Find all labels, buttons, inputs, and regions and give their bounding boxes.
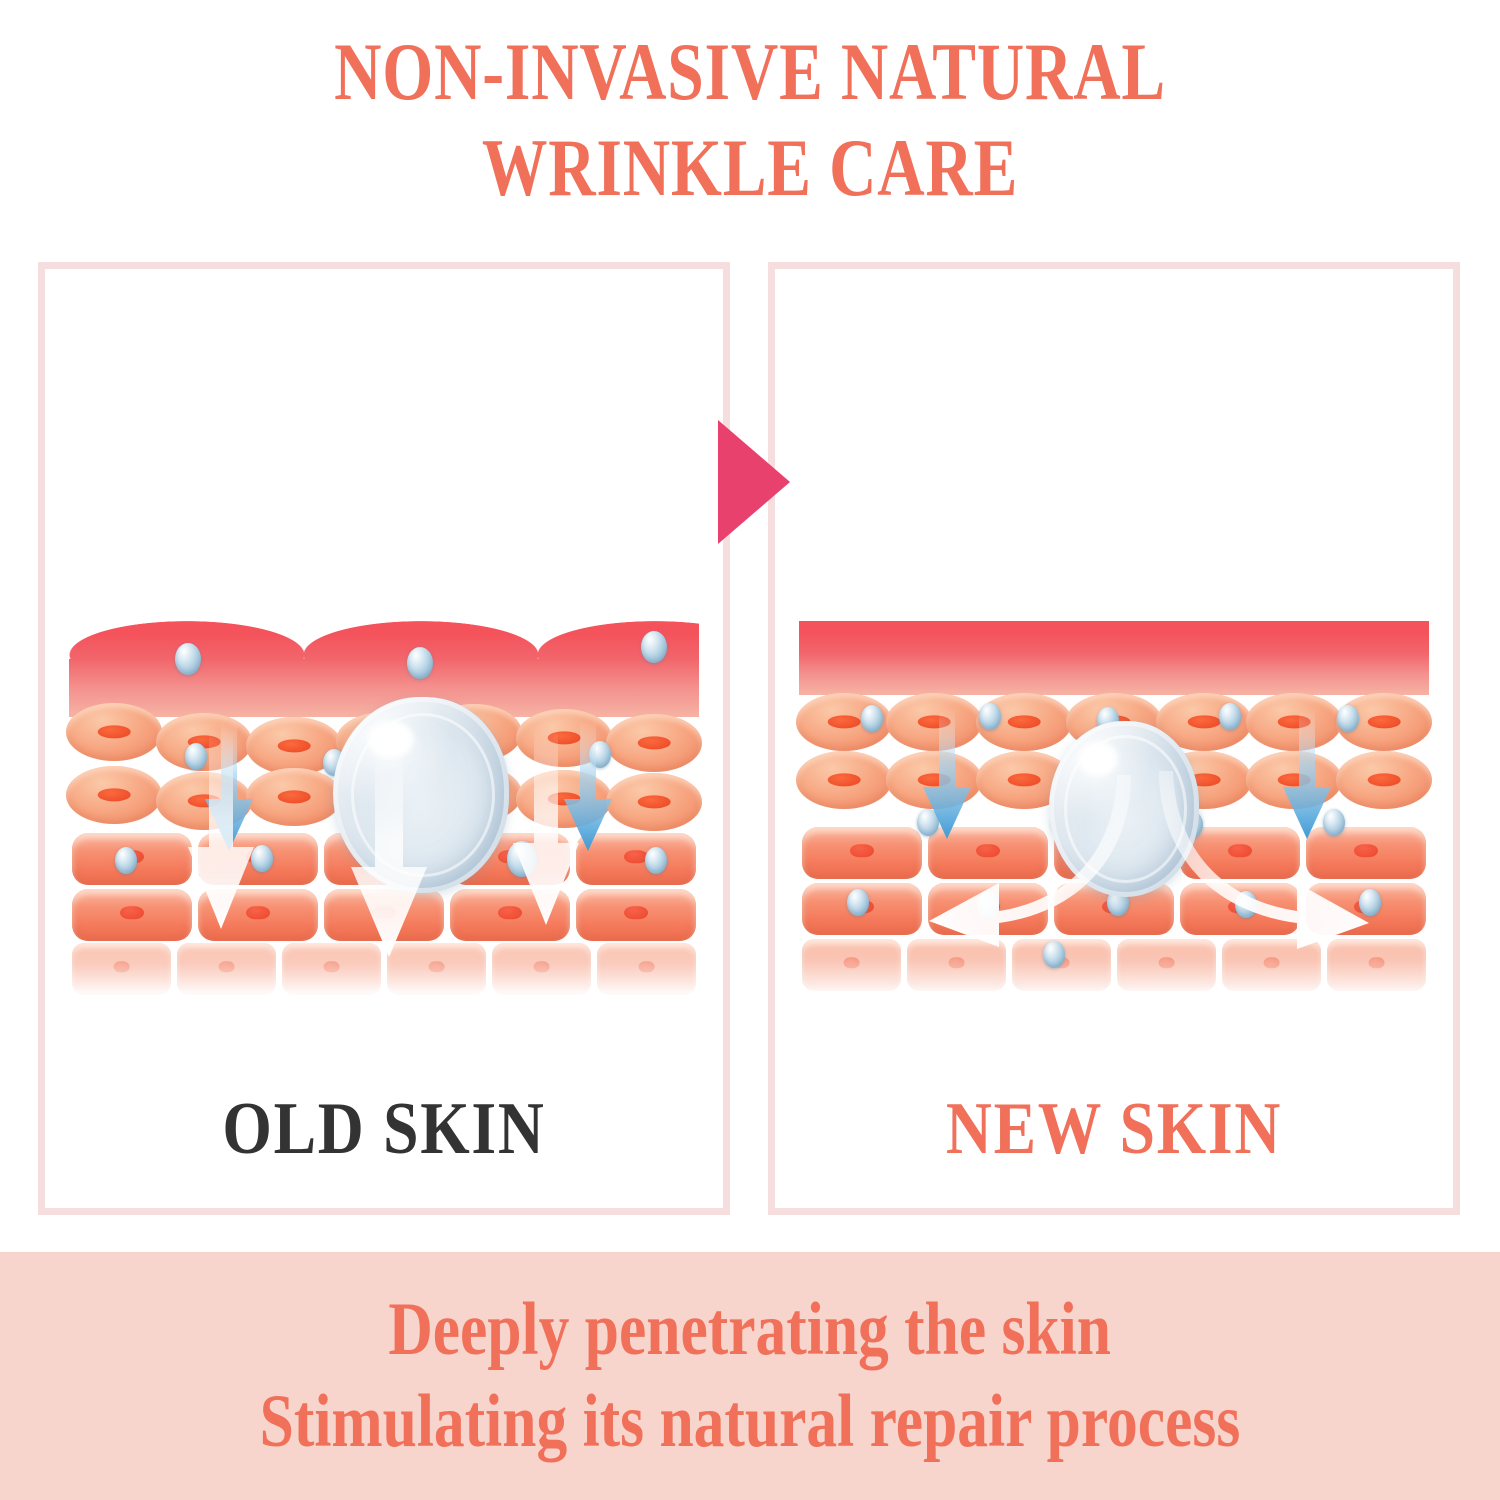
skin-cell: [597, 943, 696, 995]
skin-cell: [576, 889, 696, 941]
moisture-bead-icon: [115, 847, 137, 874]
skin-cell: [72, 889, 192, 941]
skin-cell: [606, 773, 702, 831]
moisture-bead-icon: [407, 647, 433, 679]
infographic-canvas: NON-INVASIVE NATURAL WRINKLE CARE: [0, 0, 1500, 1500]
skin-cell: [796, 751, 892, 809]
moisture-bead-icon: [1219, 703, 1241, 730]
white-penetration-arrow-icon: [347, 741, 431, 957]
skin-cell: [177, 943, 276, 995]
white-curved-arrow-icon: [887, 771, 1147, 951]
right-triangle-arrow-icon: [718, 420, 790, 544]
moisture-bead-icon: [979, 703, 1001, 730]
moisture-bead-icon: [861, 705, 883, 732]
epidermis-layer-smooth: [799, 621, 1429, 695]
white-penetration-arrow-icon: [184, 729, 258, 929]
skin-cell: [72, 943, 171, 995]
panel-old-skin-illustration: OLD SKIN: [45, 269, 723, 1208]
page-title: NON-INVASIVE NATURAL WRINKLE CARE: [0, 24, 1500, 216]
skin-cell: [492, 943, 591, 995]
panel-caption-new-skin: NEW SKIN: [822, 1087, 1405, 1172]
white-penetration-arrow-icon: [509, 727, 583, 925]
skin-cell: [246, 768, 342, 826]
footer-line-2: Stimulating its natural repair process: [260, 1376, 1241, 1468]
moisture-bead-icon: [847, 889, 869, 916]
white-curved-arrow-icon: [1151, 767, 1419, 953]
skin-cell: [66, 703, 162, 761]
title-line-1: NON-INVASIVE NATURAL: [150, 24, 1350, 120]
title-line-2: WRINKLE CARE: [150, 120, 1350, 216]
footer-line-1: Deeply penetrating the skin: [389, 1284, 1112, 1376]
footer-banner: Deeply penetrating the skin Stimulating …: [0, 1252, 1500, 1500]
moisture-bead-icon: [1337, 705, 1359, 732]
panel-old-skin: OLD SKIN: [38, 262, 730, 1215]
panel-new-skin-illustration: NEW SKIN: [775, 269, 1453, 1208]
moisture-bead-icon: [175, 643, 201, 675]
moisture-bead-icon: [645, 847, 667, 874]
moisture-bead-icon: [641, 631, 667, 663]
skin-cross-section-new: [799, 621, 1429, 1003]
panel-caption-old-skin: OLD SKIN: [92, 1087, 675, 1172]
panel-new-skin: NEW SKIN: [768, 262, 1460, 1215]
skin-cell: [66, 766, 162, 824]
